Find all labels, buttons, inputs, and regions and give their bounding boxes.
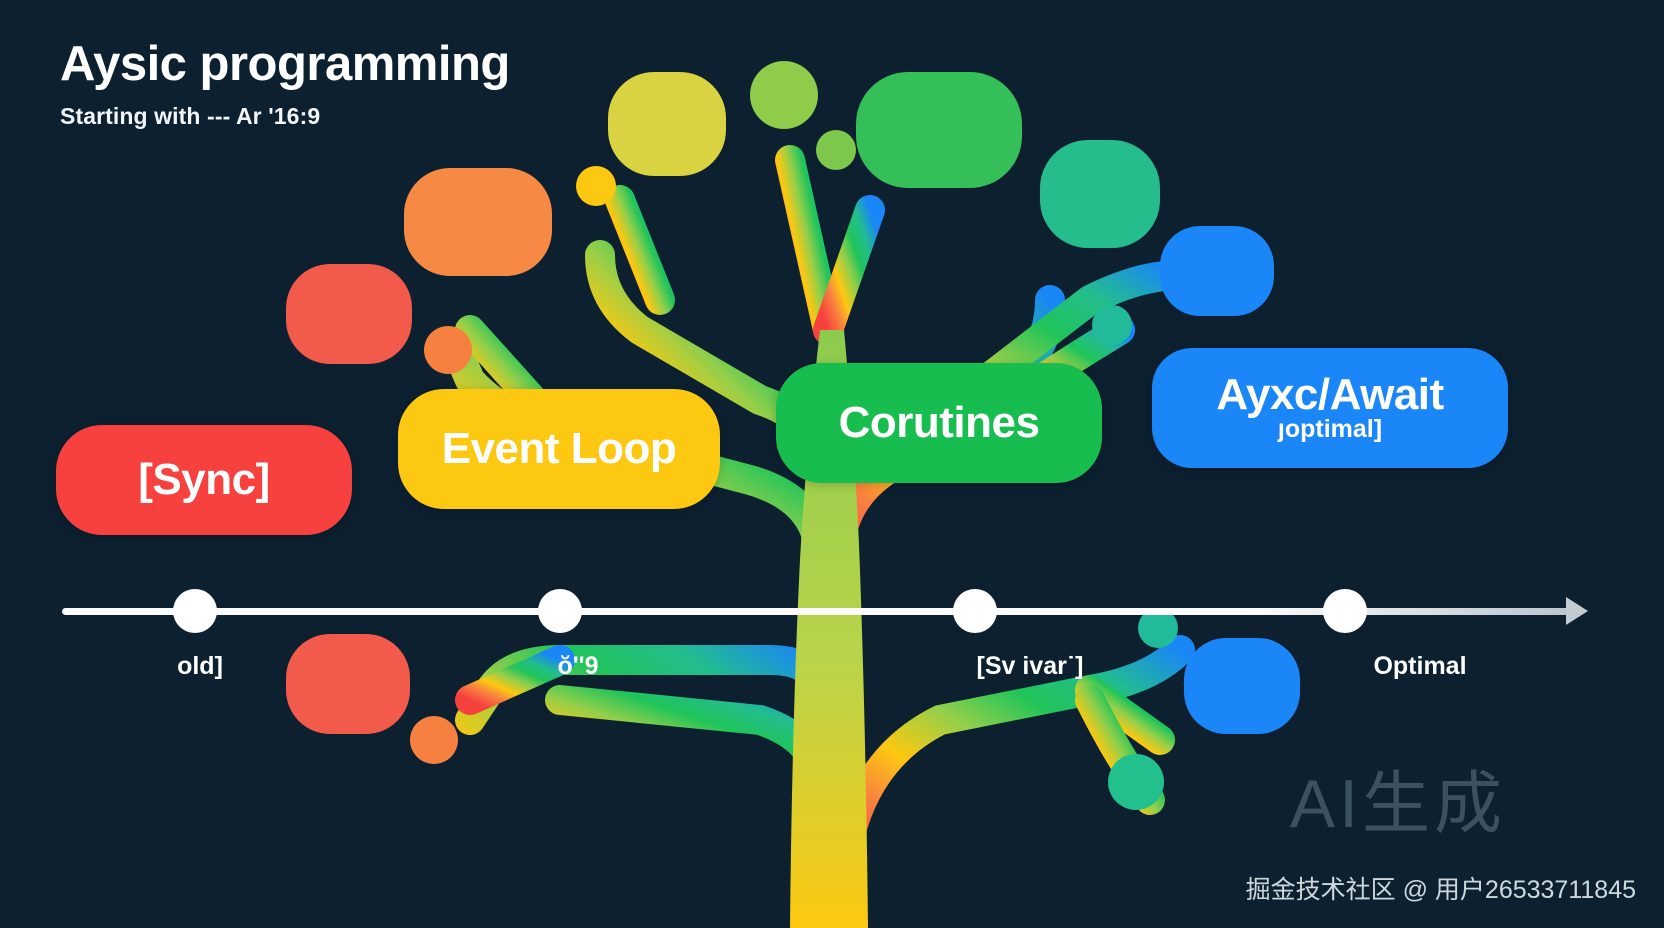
stage-pill-sync-label: [Sync] [138,458,269,503]
timeline-node-async-await[interactable] [1323,589,1367,633]
timeline-node-sync[interactable] [173,589,217,633]
stage-pill-event-loop[interactable]: Event Loop [398,389,720,509]
page-title: Aysic programming [60,38,510,91]
stage-pill-sync[interactable]: [Sync] [56,425,352,535]
timeline-node-event-loop[interactable] [538,589,582,633]
credit-watermark: 掘金技术社区 @ 用户26533711845 [1246,870,1636,906]
stage-pill-async-await-label: Ayxc/Await [1216,373,1443,418]
header-block: Aysic programming Starting with --- Ar '… [60,38,510,130]
page-subtitle: Starting with --- Ar '16:9 [60,103,510,130]
stage-pill-event-loop-label: Event Loop [442,427,677,472]
stage-pill-coroutines[interactable]: Corutines [776,363,1102,483]
infographic-canvas: Aysic programming Starting with --- Ar '… [0,0,1664,928]
stage-pill-coroutines-label: Corutines [839,401,1040,446]
timeline-label-sync: old] [177,652,223,681]
timeline-label-coroutines: [Sv ivar˙] [977,652,1084,681]
timeline-arrow-icon [1566,597,1588,625]
stage-pill-async-await[interactable]: Ayxc/Await ȷoptimal] [1152,348,1508,468]
ai-watermark: AI生成 [1290,748,1506,847]
timeline-node-coroutines[interactable] [953,589,997,633]
timeline-label-async-await: Optimal [1373,652,1466,681]
timeline-label-event-loop: ŏ''9 [557,652,598,681]
stage-pill-async-await-sublabel: ȷoptimal] [1278,416,1382,442]
